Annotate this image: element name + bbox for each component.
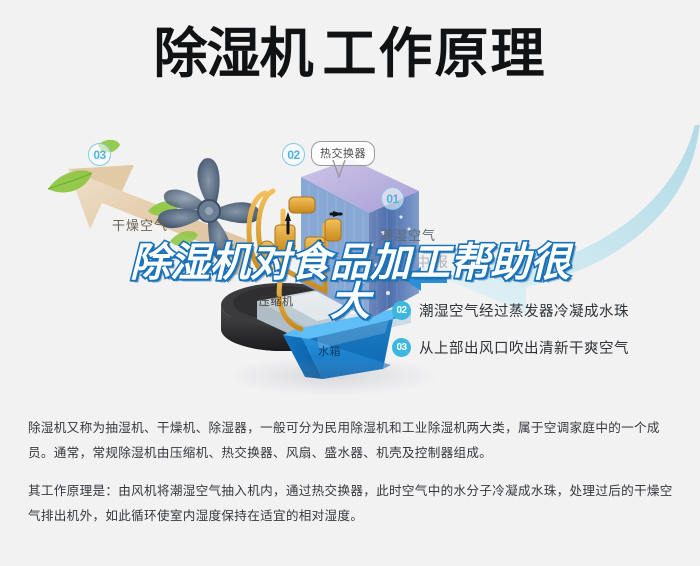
- legend-list: 02 潮湿空气经过蒸发器冷凝成水珠 03 从上部出风口吹出清新干爽空气: [392, 300, 692, 374]
- diagram-badge-02: 02: [282, 143, 305, 166]
- legend-item: 03 从上部出风口吹出清新干爽空气: [392, 337, 692, 358]
- legend-badge-02: 02: [392, 301, 411, 320]
- paragraph-2: 其工作原理是：由风机将潮湿空气抽入机内，通过热交换器，此时空气中的水分子冷凝成水…: [28, 479, 676, 528]
- legend-badge-03: 03: [392, 338, 411, 357]
- paragraph-1: 除湿机又称为抽湿机、干燥机、除湿器，一般可分为民用除湿机和工业除湿机两大类，属于…: [28, 416, 676, 465]
- legend-text-02: 潮湿空气经过蒸发器冷凝成水珠: [419, 300, 629, 321]
- label-compressor: 压缩机: [259, 293, 294, 309]
- label-humid-air: 潮湿空气: [380, 225, 436, 244]
- label-dry-air: 干燥空气: [112, 215, 168, 234]
- page-title: 除湿机工作原理: [0, 26, 700, 83]
- legend-item: 02 潮湿空气经过蒸发器冷凝成水珠: [392, 300, 692, 321]
- legend-text-03: 从上部出风口吹出清新干爽空气: [419, 337, 629, 358]
- diagram-badge-03: 03: [88, 143, 111, 166]
- title-part-a: 除湿机: [154, 24, 313, 84]
- callout-tail-icon: [332, 160, 346, 178]
- title-part-b: 工作原理: [323, 24, 547, 84]
- watermark: 中报: [416, 252, 452, 272]
- body-copy: 除湿机又称为抽湿机、干燥机、除湿器，一般可分为民用除湿机和工业除湿机两大类，属于…: [28, 416, 676, 528]
- poster-root: 除湿机工作原理: [0, 0, 700, 566]
- diagram-badge-01: 01: [381, 187, 404, 210]
